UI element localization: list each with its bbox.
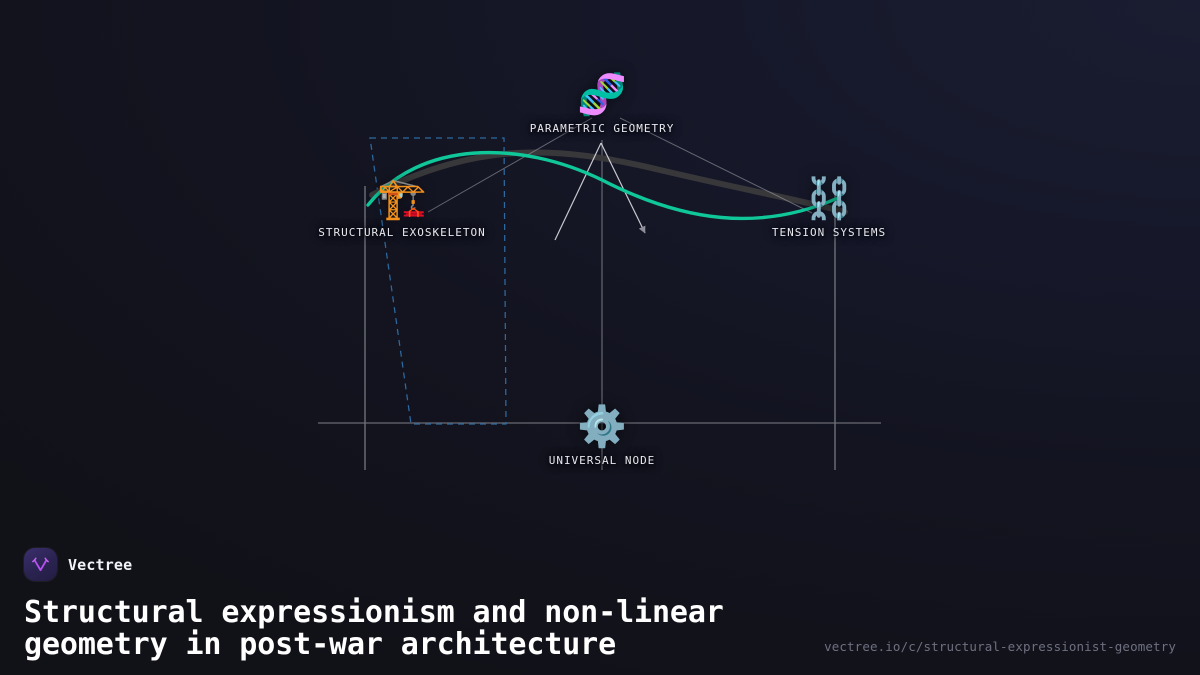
node-label-parametric-geometry: PARAMETRIC GEOMETRY — [530, 122, 675, 135]
screenshot-root: 🧬 PARAMETRIC GEOMETRY 🏗️ STRUCTURAL EXOS… — [0, 0, 1200, 675]
construction-crane-icon: 🏗️ — [377, 176, 427, 222]
vectree-logo-badge — [24, 548, 57, 581]
source-url: vectree.io/c/structural-expressionist-ge… — [824, 639, 1176, 654]
emphasis-line-right-arrow — [601, 143, 645, 233]
node-label-structural-exoskeleton: STRUCTURAL EXOSKELETON — [318, 226, 485, 239]
brand-row[interactable]: Vectree — [24, 548, 1176, 581]
gear-icon: ⚙️ — [577, 404, 627, 450]
node-label-tension-systems: TENSION SYSTEMS — [772, 226, 886, 239]
brand-name: Vectree — [68, 556, 132, 574]
node-label-universal-node: UNIVERSAL NODE — [549, 454, 656, 467]
page-title: Structural expressionism and non-linear … — [24, 597, 784, 661]
footer: Vectree Structural expressionism and non… — [0, 548, 1200, 675]
vectree-v-icon — [30, 554, 51, 575]
dna-icon: 🧬 — [577, 72, 627, 118]
chains-icon: ⛓️ — [804, 176, 854, 222]
parametric-teal-curve — [368, 153, 838, 219]
